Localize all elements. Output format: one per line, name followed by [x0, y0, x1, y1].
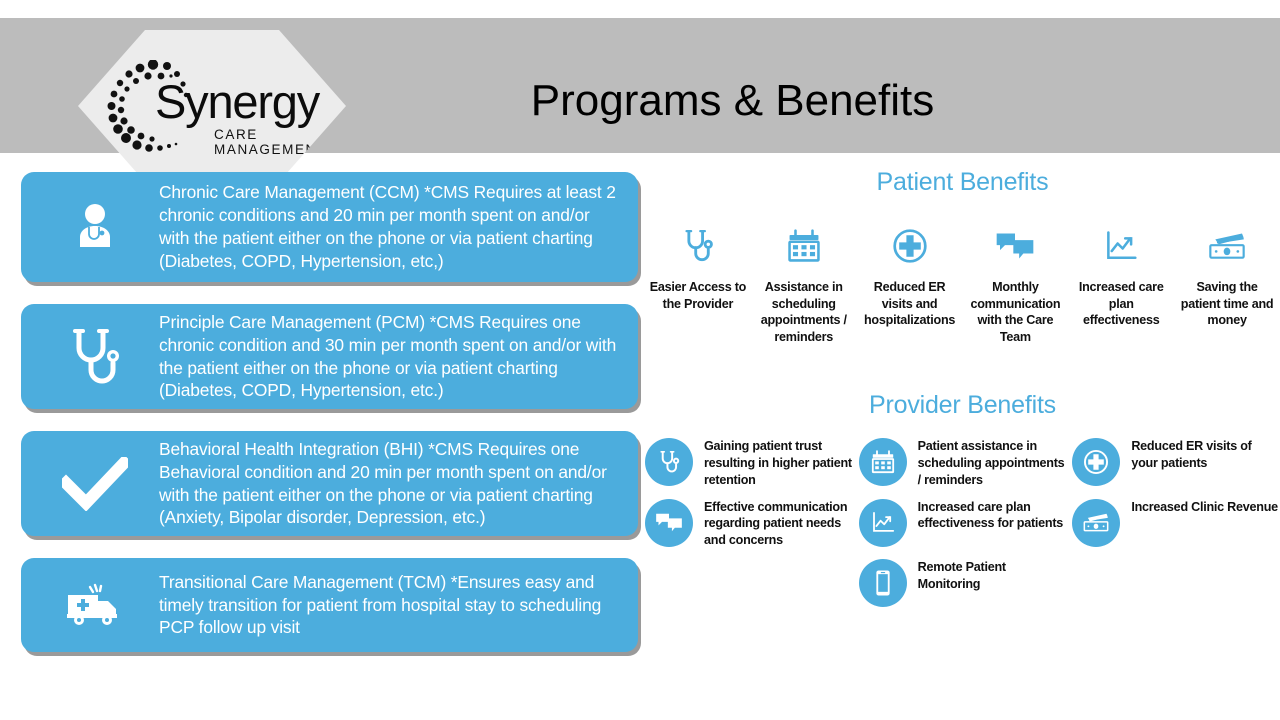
program-card-pcm[interactable]: Principle Care Management (PCM) *CMS Req…: [21, 304, 638, 409]
cash-icon: [1072, 499, 1120, 547]
line-chart-up-icon: [1104, 225, 1138, 267]
stethoscope-icon: [645, 438, 693, 486]
patient-benefit-item[interactable]: Increased care plan effectiveness: [1068, 225, 1174, 345]
programs-list: Chronic Care Management (CCM) *CMS Requi…: [21, 172, 641, 674]
speech-bubbles-icon: [995, 225, 1035, 267]
provider-benefit-label: Effective communication regarding patien…: [704, 497, 853, 549]
cash-icon: [1207, 225, 1247, 267]
patient-benefit-item[interactable]: Saving the patient time and money: [1174, 225, 1280, 345]
patient-benefit-label: Increased care plan effectiveness: [1068, 279, 1174, 329]
patient-benefit-label: Saving the patient time and money: [1174, 279, 1280, 329]
program-card-text: Transitional Care Management (TCM) *Ensu…: [159, 571, 624, 639]
doctor-icon: [31, 201, 159, 253]
provider-benefit-label: Gaining patient trust resulting in highe…: [704, 436, 853, 488]
speech-bubbles-icon: [645, 499, 693, 547]
provider-benefit-label: Remote Patient Monitoring: [918, 557, 1067, 592]
calendar-icon: [859, 438, 907, 486]
checkmark-icon: [31, 457, 159, 511]
mobile-phone-icon: [859, 559, 907, 607]
program-card-ccm[interactable]: Chronic Care Management (CCM) *CMS Requi…: [21, 172, 638, 282]
provider-benefit-label: Reduced ER visits of your patients: [1131, 436, 1280, 471]
logo-tagline: CARE MANAGEMENT: [214, 127, 327, 157]
patient-benefit-label: Reduced ER visits and hospitalizations: [857, 279, 963, 329]
provider-benefit-item[interactable]: Effective communication regarding patien…: [645, 497, 853, 549]
benefits-panel: Patient Benefits Easier Access to the Pr…: [645, 168, 1280, 607]
provider-benefit-item[interactable]: Increased care plan effectiveness for pa…: [859, 497, 1067, 549]
patient-benefit-label: Easier Access to the Provider: [645, 279, 751, 312]
provider-benefit-item[interactable]: Increased Clinic Revenue: [1072, 497, 1280, 549]
patient-benefits-row: Easier Access to the Provider Assistance…: [645, 225, 1280, 345]
provider-benefit-item[interactable]: Reduced ER visits of your patients: [1072, 436, 1280, 488]
program-card-text: Behavioral Health Integration (BHI) *CMS…: [159, 438, 624, 529]
provider-benefit-item[interactable]: Remote Patient Monitoring: [859, 557, 1067, 607]
stethoscope-icon: [31, 326, 159, 388]
patient-benefit-item[interactable]: Assistance in scheduling appointments / …: [751, 225, 857, 345]
header-bar: Synergy CARE MANAGEMENT Programs & Benef…: [0, 18, 1280, 153]
stethoscope-icon: [682, 225, 714, 267]
provider-benefits-grid: Gaining patient trust resulting in highe…: [645, 436, 1280, 606]
patient-benefit-label: Monthly communication with the Care Team: [962, 279, 1068, 345]
page-title: Programs & Benefits: [0, 76, 1280, 126]
slide: Synergy CARE MANAGEMENT Programs & Benef…: [0, 0, 1280, 720]
program-card-bhi[interactable]: Behavioral Health Integration (BHI) *CMS…: [21, 431, 638, 536]
provider-benefit-label: Increased Clinic Revenue: [1131, 497, 1278, 516]
patient-benefits-title: Patient Benefits: [645, 168, 1280, 197]
provider-benefit-label: Increased care plan effectiveness for pa…: [918, 497, 1067, 532]
provider-benefit-item[interactable]: Gaining patient trust resulting in highe…: [645, 436, 853, 488]
ambulance-icon: [31, 581, 159, 629]
provider-benefits-title: Provider Benefits: [645, 391, 1280, 420]
provider-benefit-label: Patient assistance in scheduling appoint…: [918, 436, 1067, 488]
program-card-text: Chronic Care Management (CCM) *CMS Requi…: [159, 181, 624, 272]
patient-benefit-item[interactable]: Reduced ER visits and hospitalizations: [857, 225, 963, 345]
program-card-tcm[interactable]: Transitional Care Management (TCM) *Ensu…: [21, 558, 638, 652]
program-card-text: Principle Care Management (PCM) *CMS Req…: [159, 311, 624, 402]
provider-benefit-item[interactable]: Patient assistance in scheduling appoint…: [859, 436, 1067, 488]
medical-cross-circle-icon: [892, 225, 928, 267]
patient-benefit-label: Assistance in scheduling appointments / …: [751, 279, 857, 345]
calendar-icon: [787, 225, 821, 267]
line-chart-up-icon: [859, 499, 907, 547]
patient-benefit-item[interactable]: Monthly communication with the Care Team: [962, 225, 1068, 345]
patient-benefit-item[interactable]: Easier Access to the Provider: [645, 225, 751, 345]
medical-cross-circle-icon: [1072, 438, 1120, 486]
